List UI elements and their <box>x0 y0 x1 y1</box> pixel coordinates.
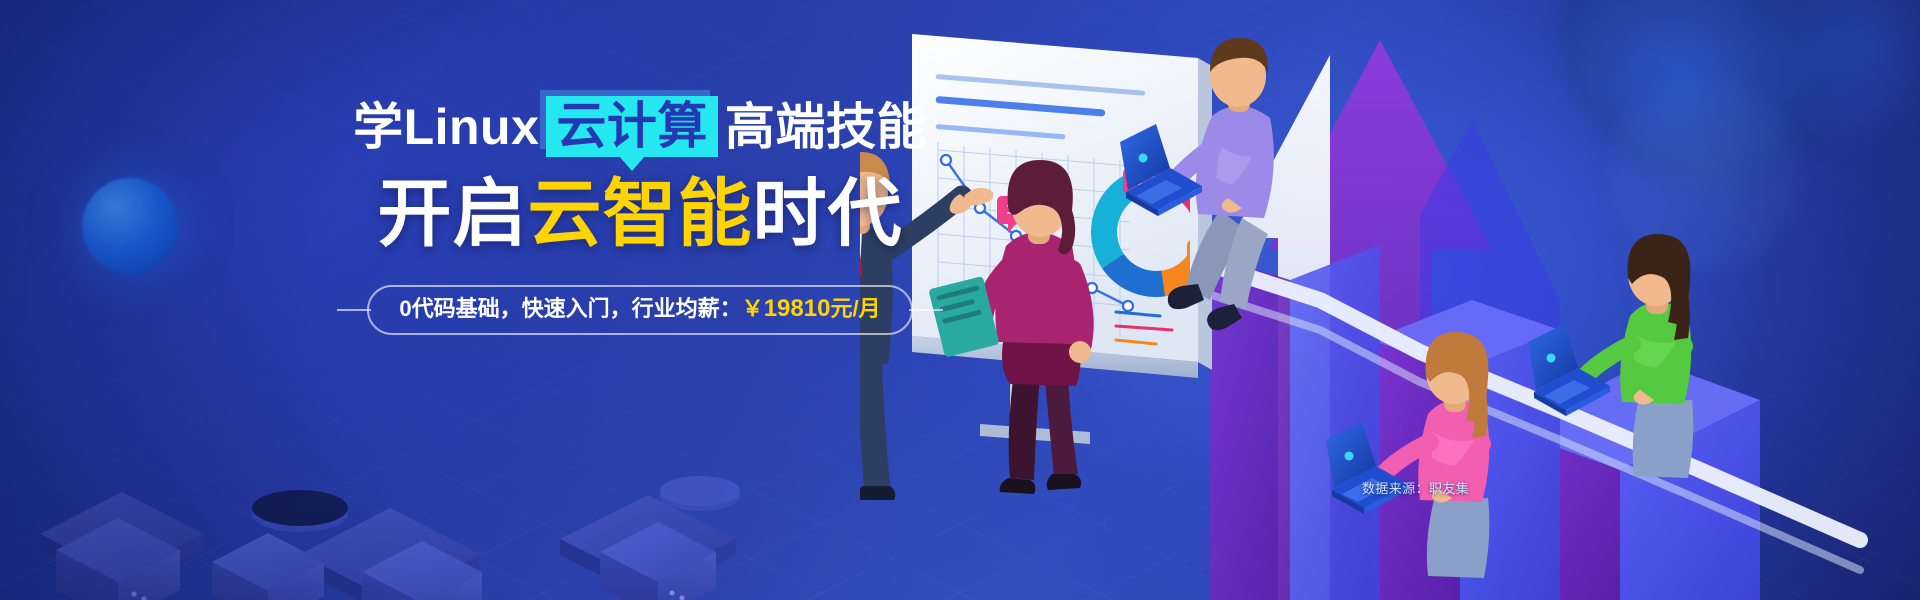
hero-illustration <box>860 0 1920 600</box>
data-source-attribution: 数据来源：职友集 <box>1362 478 1469 497</box>
headline-copy: 学Linux 云计算 高端技能 开启云智能时代 0代码基础，快速入门，行业均薪：… <box>330 96 950 335</box>
headline-line-2: 开启云智能时代 <box>330 177 950 251</box>
headline-line-1: 学Linux 云计算 高端技能 <box>330 96 950 157</box>
salary-amount: 19810 <box>764 295 831 322</box>
headline-line2-part2: 时代 <box>753 172 903 255</box>
promo-banner: 学Linux 云计算 高端技能 开启云智能时代 0代码基础，快速入门，行业均薪：… <box>0 0 1920 600</box>
currency-symbol: ￥ <box>742 296 764 321</box>
subtitle-pill: 0代码基础，快速入门，行业均薪：￥19810元/月 <box>367 285 912 335</box>
subtitle-rule-left <box>337 309 371 311</box>
headline-line1-after: 高端技能 <box>725 102 927 152</box>
subtitle-text: 0代码基础，快速入门，行业均薪： <box>399 296 741 321</box>
isometric-server-racks <box>0 300 900 600</box>
headline-line1-before: 学Linux <box>353 102 539 152</box>
headline-highlight-cloud-computing: 云计算 <box>546 96 718 157</box>
headline-line2-accent: 云智能 <box>528 172 753 255</box>
glow-sphere-left <box>82 178 178 274</box>
subtitle-bar: 0代码基础，快速入门，行业均薪：￥19810元/月 <box>330 285 950 335</box>
salary-unit: 元/月 <box>830 296 880 321</box>
salary-price: ￥19810元/月 <box>742 296 881 321</box>
headline-line2-part1: 开启 <box>378 172 528 255</box>
subtitle-rule-right <box>909 309 943 311</box>
